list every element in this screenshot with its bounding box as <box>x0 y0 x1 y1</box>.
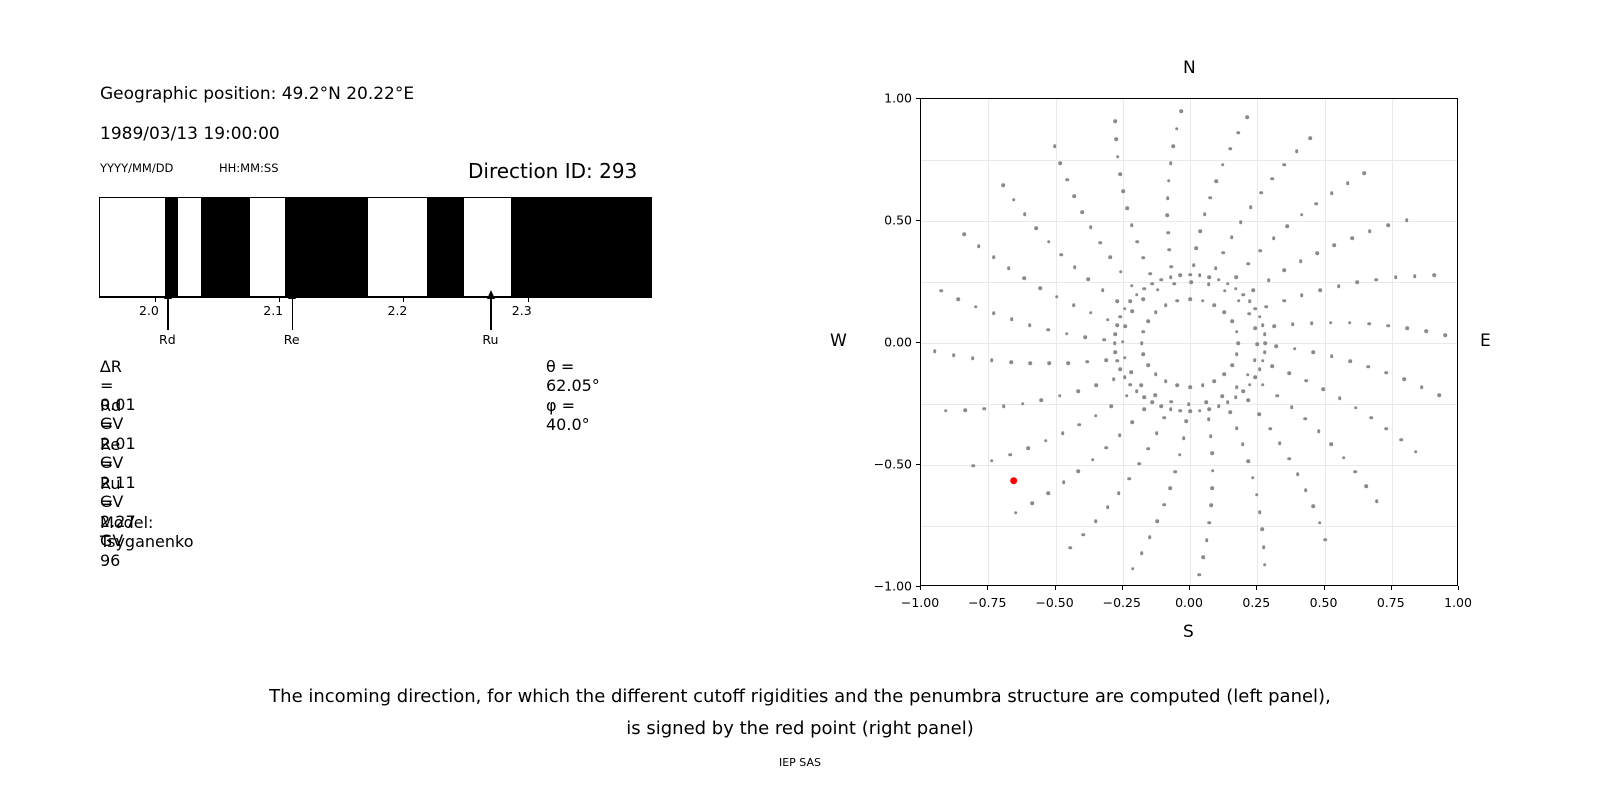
x-axis-tick-label: −0.75 <box>968 595 1006 610</box>
direction-point <box>1291 322 1295 326</box>
direction-point <box>1039 286 1043 290</box>
direction-point <box>1274 344 1278 348</box>
direction-point <box>1330 355 1334 359</box>
direction-point <box>1362 172 1366 176</box>
direction-point <box>1119 270 1123 274</box>
direction-point <box>1252 288 1256 292</box>
direction-point <box>1241 293 1245 297</box>
direction-point <box>1253 375 1257 379</box>
direction-point <box>1135 390 1139 394</box>
direction-point <box>1300 213 1304 217</box>
direction-point <box>1293 347 1297 351</box>
y-axis-tick <box>916 220 920 221</box>
direction-point <box>1367 365 1371 369</box>
direction-point <box>977 244 981 248</box>
direction-point <box>1154 310 1158 314</box>
direction-point <box>1263 350 1267 354</box>
direction-point <box>1114 137 1118 141</box>
direction-point <box>1188 410 1192 414</box>
direction-point <box>1130 284 1134 288</box>
direction-point <box>1312 350 1316 354</box>
direction-point <box>1333 243 1337 247</box>
direction-point <box>1414 450 1418 454</box>
direction-point <box>1176 384 1180 388</box>
x-axis-tick-label: 0.25 <box>1242 595 1270 610</box>
direction-point <box>1110 404 1114 408</box>
direction-point <box>1151 282 1155 286</box>
caption-line-2: is signed by the red point (right panel) <box>0 718 1600 739</box>
direction-map-panel: −1.00−0.75−0.50−0.250.000.250.500.751.00… <box>760 0 1600 660</box>
date-format-hint: YYYY/MM/DD <box>100 161 173 175</box>
direction-point <box>1125 206 1129 210</box>
direction-point <box>1159 278 1163 282</box>
direction-point <box>1237 299 1241 303</box>
penumbra-tick-label: 2.2 <box>388 303 408 318</box>
direction-point <box>1131 567 1135 571</box>
direction-point <box>1114 350 1118 354</box>
gridline-horizontal <box>921 160 1457 161</box>
direction-point <box>1249 206 1253 210</box>
direction-point <box>1130 223 1134 227</box>
direction-point <box>1108 256 1112 260</box>
direction-point <box>1118 172 1122 176</box>
direction-point <box>1101 289 1105 293</box>
direction-id-label: Direction ID: 293 <box>468 159 637 183</box>
direction-point <box>1137 462 1141 466</box>
direction-point <box>1310 321 1314 325</box>
direction-point <box>1324 538 1328 542</box>
direction-point <box>1305 379 1309 383</box>
x-axis-tick-label: 0.75 <box>1377 595 1405 610</box>
direction-point <box>1268 427 1272 431</box>
direction-point <box>1247 399 1251 403</box>
direction-point <box>1210 452 1214 456</box>
direction-point <box>1348 359 1352 363</box>
direction-point <box>1061 431 1065 435</box>
direction-scatter-plot <box>920 98 1458 586</box>
direction-point <box>1348 321 1352 325</box>
penumbra-forbidden-band <box>165 198 178 296</box>
direction-point <box>1123 307 1127 311</box>
gridline-vertical <box>1190 99 1191 585</box>
direction-point <box>1203 213 1207 217</box>
direction-point <box>1223 289 1227 293</box>
direction-point <box>1172 282 1176 286</box>
direction-point <box>939 289 943 293</box>
direction-point <box>1222 372 1226 376</box>
direction-point <box>1087 277 1091 281</box>
x-axis-tick <box>1391 586 1392 590</box>
direction-point <box>1098 241 1102 245</box>
direction-point <box>1023 212 1027 216</box>
direction-point <box>1164 303 1168 307</box>
direction-point <box>1272 236 1276 240</box>
direction-point <box>1444 333 1448 337</box>
direction-point <box>1251 476 1255 480</box>
direction-point <box>1047 240 1051 244</box>
penumbra-tick <box>403 296 404 302</box>
direction-point <box>1405 326 1409 330</box>
direction-point <box>1112 377 1116 381</box>
gridline-horizontal <box>921 465 1457 466</box>
penumbra-forbidden-band <box>427 198 464 296</box>
direction-point <box>1141 256 1145 260</box>
direction-point <box>1035 226 1039 230</box>
direction-point <box>1059 253 1063 257</box>
direction-point <box>1311 504 1315 508</box>
direction-point <box>1217 404 1221 408</box>
direction-point <box>1166 196 1170 200</box>
direction-point <box>1258 367 1262 371</box>
penumbra-marker-label: Rd <box>159 332 176 347</box>
direction-point <box>1350 236 1354 240</box>
direction-point <box>1346 181 1350 185</box>
direction-point <box>1142 395 1146 399</box>
direction-point <box>1080 210 1084 214</box>
direction-point <box>1437 393 1441 397</box>
direction-point <box>1276 394 1280 398</box>
direction-point <box>1260 528 1264 532</box>
y-axis-tick <box>916 98 920 99</box>
direction-point <box>1102 338 1106 342</box>
y-axis-tick <box>916 342 920 343</box>
direction-point <box>1106 506 1110 510</box>
direction-point <box>1140 341 1144 345</box>
direction-point <box>1167 248 1171 252</box>
direction-point <box>1287 457 1291 461</box>
direction-point <box>1338 396 1342 400</box>
direction-point <box>1235 385 1239 389</box>
direction-point <box>1201 299 1205 303</box>
direction-point <box>1094 414 1098 418</box>
direction-point <box>1012 198 1016 202</box>
gridline-vertical <box>1392 99 1393 585</box>
x-axis-tick <box>987 586 988 590</box>
direction-point <box>1021 402 1025 406</box>
x-axis-tick <box>1122 586 1123 590</box>
direction-point <box>1128 477 1132 481</box>
direction-point <box>1405 218 1409 222</box>
x-axis-tick-label: −0.50 <box>1035 595 1073 610</box>
y-axis-tick <box>916 464 920 465</box>
direction-point <box>1119 315 1123 319</box>
direction-point <box>1263 332 1267 336</box>
direction-point <box>1337 284 1341 288</box>
direction-point <box>1248 383 1252 387</box>
direction-point <box>1246 262 1250 266</box>
penumbra-tick-label: 2.3 <box>512 303 532 318</box>
direction-point <box>1282 163 1286 167</box>
direction-point <box>1094 384 1098 388</box>
direction-point <box>963 408 967 412</box>
direction-point <box>1195 246 1199 250</box>
direction-point <box>1146 363 1150 367</box>
direction-point <box>1258 315 1262 319</box>
y-axis-tick-label: 0.00 <box>856 335 912 350</box>
direction-point <box>1140 383 1144 387</box>
direction-point <box>1190 280 1194 284</box>
direction-point <box>1235 353 1239 357</box>
direction-point <box>1129 371 1133 375</box>
direction-point <box>1230 363 1234 367</box>
direction-point <box>1009 360 1013 364</box>
direction-point <box>1217 278 1221 282</box>
direction-point <box>1299 260 1303 264</box>
direction-point <box>1175 127 1179 131</box>
x-axis-tick-label: −0.25 <box>1103 595 1141 610</box>
direction-point <box>1368 230 1372 234</box>
direction-point <box>1304 488 1308 492</box>
direction-point <box>1153 393 1157 397</box>
direction-point <box>1282 299 1286 303</box>
direction-point <box>1179 110 1183 114</box>
direction-point <box>1230 236 1234 240</box>
direction-point <box>1234 287 1238 291</box>
direction-point <box>1255 493 1259 497</box>
direction-point <box>1192 263 1196 267</box>
direction-point <box>1246 115 1250 119</box>
direction-point <box>1270 365 1274 369</box>
footer-label: IEP SAS <box>0 756 1600 769</box>
direction-point <box>1342 456 1346 460</box>
direction-point <box>1083 335 1087 339</box>
geographic-position-label: Geographic position: 49.2°N 20.22°E <box>100 84 414 104</box>
direction-point <box>1221 163 1225 167</box>
direction-point <box>1026 446 1030 450</box>
direction-point <box>1055 295 1059 299</box>
direction-point <box>1128 383 1132 387</box>
penumbra-tick <box>279 296 280 302</box>
direction-point <box>1254 327 1258 331</box>
direction-point <box>957 297 961 301</box>
direction-point <box>1264 341 1268 345</box>
direction-point <box>990 459 994 463</box>
direction-point <box>1222 310 1226 314</box>
direction-point <box>1235 330 1239 334</box>
direction-point <box>1365 484 1369 488</box>
direction-point <box>944 409 948 413</box>
direction-point <box>1072 303 1076 307</box>
x-axis-tick-label: −1.00 <box>901 595 939 610</box>
direction-point <box>1089 311 1093 315</box>
direction-point <box>1188 385 1192 389</box>
direction-point <box>1237 341 1241 345</box>
direction-point <box>1402 378 1406 382</box>
direction-point <box>1318 288 1322 292</box>
direction-point <box>1317 429 1321 433</box>
direction-point <box>1283 269 1287 273</box>
direction-point <box>1188 273 1192 277</box>
direction-point <box>992 256 996 260</box>
direction-point <box>1300 293 1304 297</box>
direction-point <box>1121 189 1125 193</box>
direction-point <box>1142 407 1146 411</box>
direction-point <box>1023 277 1027 281</box>
penumbra-marker-label: Re <box>284 332 300 347</box>
direction-point <box>1228 147 1232 151</box>
direction-point <box>1178 409 1182 413</box>
compass-north-label: N <box>1183 58 1196 78</box>
direction-point <box>1030 501 1034 505</box>
direction-point <box>990 359 994 363</box>
direction-point <box>1121 340 1125 344</box>
direction-point <box>1078 423 1082 427</box>
direction-point <box>1169 265 1173 269</box>
direction-point <box>1008 453 1012 457</box>
direction-point <box>1040 398 1044 402</box>
direction-point <box>992 312 996 316</box>
gridline-vertical <box>1325 99 1326 585</box>
direction-point <box>1375 499 1379 503</box>
direction-point <box>1174 470 1178 474</box>
direction-point <box>1201 384 1205 388</box>
direction-point <box>1226 282 1230 286</box>
direction-point <box>1241 443 1245 447</box>
direction-point <box>1375 278 1379 282</box>
direction-point <box>1053 145 1057 149</box>
direction-point <box>1117 491 1121 495</box>
direction-point <box>1330 191 1334 195</box>
direction-point <box>1141 353 1145 357</box>
direction-point <box>1028 323 1032 327</box>
direction-point <box>1318 521 1322 525</box>
direction-point <box>1420 385 1424 389</box>
direction-point <box>1106 318 1110 322</box>
direction-point <box>1178 273 1182 277</box>
direction-point <box>1062 481 1066 485</box>
direction-point <box>1399 438 1403 442</box>
direction-point <box>1047 362 1051 366</box>
direction-point <box>1246 373 1250 377</box>
compass-south-label: S <box>1183 622 1194 642</box>
y-axis-tick <box>916 586 920 587</box>
y-axis-tick-label: −0.50 <box>856 457 912 472</box>
direction-point <box>1076 389 1080 393</box>
direction-point <box>1172 144 1176 148</box>
direction-point <box>1209 434 1213 438</box>
direction-point <box>1182 436 1186 440</box>
direction-point <box>1259 191 1263 195</box>
penumbra-forbidden-band <box>201 198 250 296</box>
direction-point <box>1118 433 1122 437</box>
selected-direction-point[interactable] <box>1010 477 1018 485</box>
direction-point <box>1272 324 1276 328</box>
direction-point <box>1162 503 1166 507</box>
arrow-shaft <box>292 298 293 330</box>
direction-point <box>1278 442 1282 446</box>
direction-point <box>1211 469 1215 473</box>
direction-point <box>1290 405 1294 409</box>
direction-point <box>1091 458 1095 462</box>
direction-point <box>1114 332 1118 336</box>
direction-point <box>1222 251 1226 255</box>
direction-point <box>1007 266 1011 270</box>
direction-point <box>1239 220 1243 224</box>
direction-point <box>1413 274 1417 278</box>
direction-point <box>1304 417 1308 421</box>
direction-point <box>1246 459 1250 463</box>
direction-point <box>1241 390 1245 394</box>
direction-point <box>1105 446 1109 450</box>
x-axis-tick <box>1458 586 1459 590</box>
penumbra-forbidden-band <box>285 198 368 296</box>
direction-point <box>1128 300 1132 304</box>
x-axis-tick-label: 0.00 <box>1175 595 1203 610</box>
direction-point <box>1166 231 1170 235</box>
gridline-horizontal <box>921 343 1457 344</box>
direction-point <box>1148 272 1152 276</box>
direction-point <box>1131 310 1135 314</box>
cutoff-value-row: Model: Tsyganenko 96 <box>100 513 194 570</box>
direction-point <box>1124 324 1128 328</box>
time-format-hint: HH:MM:SS <box>219 161 279 175</box>
direction-point <box>1267 278 1271 282</box>
direction-point <box>1044 439 1048 443</box>
direction-point <box>1146 319 1150 323</box>
direction-point <box>1155 431 1159 435</box>
direction-point <box>1119 367 1123 371</box>
direction-point <box>1115 324 1119 328</box>
direction-point <box>1169 275 1173 279</box>
direction-point <box>1214 267 1218 271</box>
direction-point <box>1208 196 1212 200</box>
direction-point <box>1115 299 1119 303</box>
direction-point <box>1296 472 1300 476</box>
x-axis-tick-label: 0.50 <box>1310 595 1338 610</box>
direction-point <box>1386 224 1390 228</box>
y-axis-tick-label: 1.00 <box>856 91 912 106</box>
arrow-shaft <box>490 298 491 330</box>
direction-point <box>1234 395 1238 399</box>
direction-point <box>1271 177 1275 181</box>
direction-point <box>1148 535 1152 539</box>
direction-point <box>1386 324 1390 328</box>
direction-point <box>1154 372 1158 376</box>
direction-point <box>1308 137 1312 141</box>
direction-point <box>1123 375 1127 379</box>
direction-point <box>1014 511 1018 515</box>
caption-line-1: The incoming direction, for which the di… <box>0 686 1600 707</box>
direction-point <box>1142 297 1146 301</box>
direction-point <box>1369 416 1373 420</box>
direction-point <box>1077 470 1081 474</box>
direction-point <box>1169 407 1173 411</box>
direction-point <box>1135 293 1139 297</box>
direction-point <box>1221 395 1225 399</box>
direction-point <box>1315 202 1319 206</box>
x-axis-tick <box>1189 586 1190 590</box>
direction-point <box>1130 421 1134 425</box>
direction-point <box>1185 419 1189 423</box>
direction-point <box>1261 383 1265 387</box>
direction-point <box>1176 299 1180 303</box>
direction-point <box>1248 300 1252 304</box>
direction-point <box>1253 307 1257 311</box>
direction-point <box>1169 400 1173 404</box>
direction-point <box>1212 379 1216 383</box>
direction-point <box>1001 183 1005 187</box>
y-axis-tick-label: 0.50 <box>856 213 912 228</box>
direction-point <box>1234 275 1238 279</box>
direction-point <box>933 349 937 353</box>
direction-point <box>1094 519 1098 523</box>
direction-point <box>1295 150 1299 154</box>
direction-point <box>1028 361 1032 365</box>
direction-point <box>1159 404 1163 408</box>
direction-point <box>1205 538 1209 542</box>
direction-point <box>1207 417 1211 421</box>
direction-point <box>1253 358 1257 362</box>
